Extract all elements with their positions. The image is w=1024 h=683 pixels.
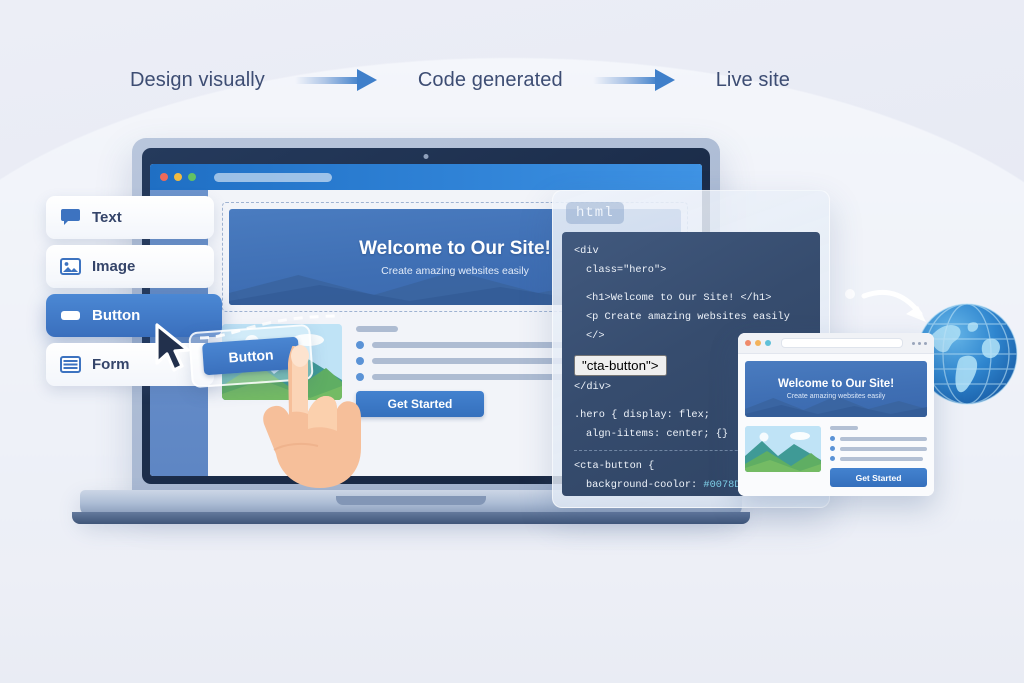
hero-title: Welcome to Our Site! bbox=[359, 238, 551, 260]
window-minimize-dot[interactable] bbox=[174, 173, 182, 181]
preview-list-heading-bar bbox=[830, 426, 858, 430]
preview-list-line bbox=[840, 447, 927, 451]
preview-list-item bbox=[830, 446, 927, 451]
laptop-base-edge bbox=[72, 512, 750, 524]
preview-menu-icon[interactable] bbox=[912, 342, 927, 345]
preview-address-bar[interactable] bbox=[781, 338, 903, 348]
preview-list-item bbox=[830, 456, 927, 461]
address-bar[interactable] bbox=[214, 173, 332, 182]
code-line: class="hero"> bbox=[574, 261, 808, 280]
palette-item-image[interactable]: Image bbox=[46, 245, 214, 288]
preview-body: Welcome to Our Site! Create amazing webs… bbox=[738, 354, 934, 496]
webcam-icon bbox=[424, 154, 429, 159]
preview-hero-subtitle: Create amazing websites easily bbox=[787, 393, 885, 400]
preview-list-line bbox=[840, 457, 923, 461]
live-preview-window: Welcome to Our Site! Create amazing webs… bbox=[738, 333, 934, 496]
preview-list-line bbox=[840, 437, 927, 441]
preview-close-dot[interactable] bbox=[745, 340, 751, 346]
preview-hero-title: Welcome to Our Site! bbox=[778, 378, 894, 390]
picture-icon bbox=[60, 258, 81, 275]
flow-step-code: Code generated bbox=[418, 69, 563, 92]
pointing-hand bbox=[244, 340, 376, 490]
preview-landscape-image bbox=[745, 426, 821, 472]
preview-minimize-dot[interactable] bbox=[755, 340, 761, 346]
palette-item-label: Text bbox=[92, 209, 122, 226]
palette-item-label: Image bbox=[92, 258, 135, 275]
window-maximize-dot[interactable] bbox=[188, 173, 196, 181]
code-tab-html[interactable]: html bbox=[566, 202, 624, 224]
illustration-canvas: Design visually Code generated Live site bbox=[0, 0, 1024, 683]
process-flow: Design visually Code generated Live site bbox=[130, 60, 790, 100]
arrow-cursor bbox=[153, 323, 199, 377]
preview-list-item bbox=[830, 436, 927, 441]
code-line: <h1>Welcome to Our Site! </h1> bbox=[574, 289, 808, 308]
preview-maximize-dot[interactable] bbox=[765, 340, 771, 346]
preview-content-list: Get Started bbox=[830, 426, 927, 487]
list-heading-bar bbox=[356, 326, 398, 332]
window-close-dot[interactable] bbox=[160, 173, 168, 181]
speech-bubble-icon bbox=[60, 209, 81, 226]
hero-subtitle: Create amazing websites easily bbox=[381, 265, 529, 277]
preview-browser-bar bbox=[738, 333, 934, 354]
bullet-icon bbox=[830, 446, 835, 451]
background-floor bbox=[0, 513, 1024, 683]
flow-step-design: Design visually bbox=[130, 69, 265, 92]
preview-content-row: Get Started bbox=[745, 426, 927, 487]
bullet-icon bbox=[830, 456, 835, 461]
preview-hero-section: Welcome to Our Site! Create amazing webs… bbox=[745, 361, 927, 417]
laptop-notch bbox=[336, 496, 486, 505]
form-lines-icon bbox=[60, 356, 81, 373]
palette-item-text[interactable]: Text bbox=[46, 196, 214, 239]
flow-arrow-2 bbox=[593, 69, 685, 91]
preview-get-started-button[interactable]: Get Started bbox=[830, 468, 927, 487]
button-icon bbox=[60, 307, 81, 324]
builder-browser-bar bbox=[150, 164, 702, 190]
palette-item-label: Form bbox=[92, 356, 130, 373]
palette-item-label: Button bbox=[92, 307, 140, 324]
flow-step-live: Live site bbox=[716, 69, 790, 92]
code-line: <div bbox=[574, 242, 808, 261]
flow-arrow-1 bbox=[295, 69, 387, 91]
bullet-icon bbox=[830, 436, 835, 441]
